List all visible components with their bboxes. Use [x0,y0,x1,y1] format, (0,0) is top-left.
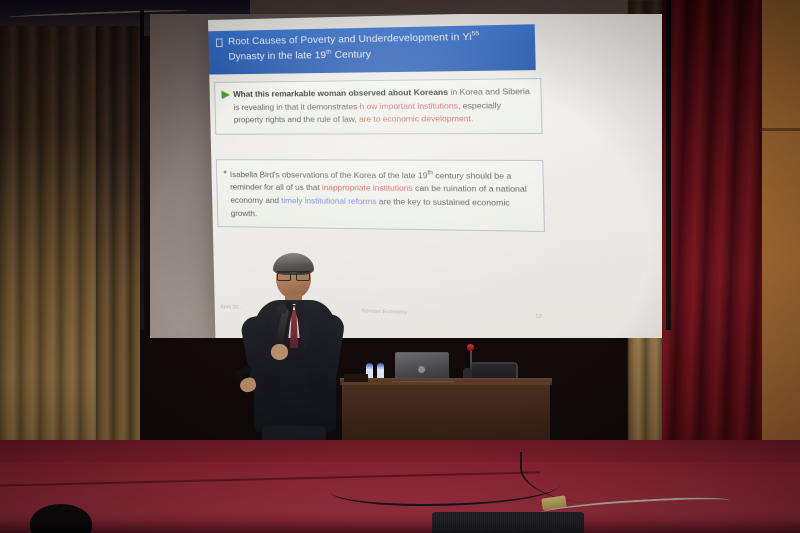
slide-content-box-1: What this remarkable woman observed abou… [214,78,542,134]
projection-screen: Root Causes of Poverty and Underdevelopm… [150,14,662,338]
slide-title-bar: Root Causes of Poverty and Underdevelopm… [208,24,536,74]
laptop-logo-icon [418,366,425,373]
screen-frame-left [140,10,144,330]
eyeglasses-icon [277,271,310,278]
lecture-hall-scene: Root Causes of Poverty and Underdevelopm… [0,0,800,533]
foreground-shadow [0,520,800,533]
slide-footer-title: Korean Economy [362,309,408,316]
slide-run-2-5: timely institutional reforms [281,196,377,207]
slide-paragraph-1: What this remarkable woman observed abou… [233,85,534,127]
wood-panel-seam [762,128,800,131]
slide-run-1-0: What this remarkable woman observed abou… [233,87,448,99]
slide-run-2-0: Isabella Bird's observations of the Kore… [230,169,428,180]
presenter-hand-right [271,344,288,360]
slide-title-line2-suffix: Century [332,50,372,61]
slide-title: Root Causes of Poverty and Underdevelopm… [228,28,480,64]
arrow-bullet-icon [222,91,230,99]
wall-wood-panel [762,0,800,470]
slide-content-box-2: Isabella Bird's observations of the Kore… [216,159,545,232]
box-glyph-icon [216,39,223,48]
slide-run-1-2: h ow important institutions [359,100,458,110]
mic-indicator-icon [467,344,474,351]
slide-title-line1-sup: 55 [472,30,480,37]
curtain-left-gold-inner [96,0,140,470]
slide-page-number: 12 [535,314,542,320]
slide-run-2-3: inappropriate institutions [322,183,413,193]
slide-paragraph-2: Isabella Bird's observations of the Kore… [230,166,537,224]
slide-title-line2-prefix: Dynasty in the late 19 [228,50,326,62]
dot-bullet-icon [224,171,226,173]
slide-run-1-4: are to economic development. [359,114,474,124]
screen-frame-right [666,0,671,330]
curtain-right-red [662,0,772,500]
microphone-icon [277,304,287,314]
